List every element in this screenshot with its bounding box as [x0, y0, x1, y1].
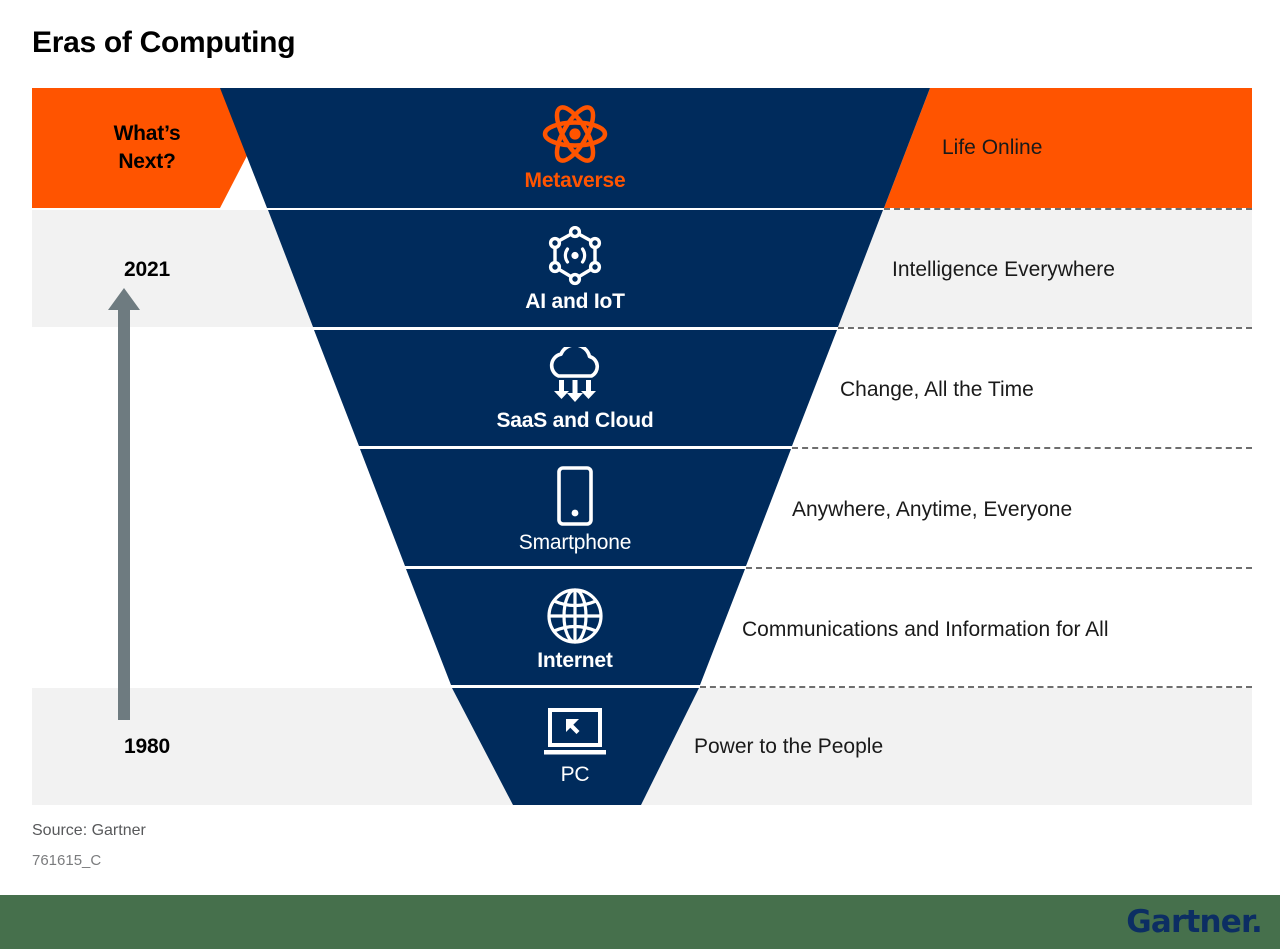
stage-smartphone: Smartphone [455, 450, 695, 570]
laptop-cursor-icon [542, 707, 608, 759]
source-line: Source: Gartner [32, 822, 146, 840]
page-title: Eras of Computing [32, 26, 295, 60]
year-1980-label: 1980 [124, 733, 170, 761]
descriptor-pc: Power to the People [694, 735, 883, 759]
descriptor-cell-pc: Power to the People [694, 688, 1114, 805]
stage-label-smartphone: Smartphone [519, 531, 631, 555]
descriptor-internet: Communications and Information for All [742, 618, 1109, 642]
year-2021-label: 2021 [124, 256, 170, 284]
gartner-logo-text: Gartner. [1126, 904, 1262, 940]
stage-label-ai-iot: AI and IoT [525, 290, 625, 314]
infographic-canvas: Eras of Computing What’s Next? Li [0, 0, 1280, 949]
descriptor-saas-cloud: Change, All the Time [840, 378, 1034, 402]
descriptor-cell-saas-cloud: Change, All the Time [840, 330, 1270, 450]
stage-label-pc: PC [561, 763, 590, 787]
stage-metaverse: Metaverse [455, 88, 695, 208]
stage-internet: Internet [455, 570, 695, 690]
whats-next-line2: Next? [118, 150, 175, 173]
descriptor-cell-smartphone: Anywhere, Anytime, Everyone [792, 450, 1272, 570]
stage-ai-iot: AI and IoT [455, 210, 695, 330]
stage-label-internet: Internet [537, 649, 612, 673]
stage-pc: PC [455, 688, 695, 805]
descriptor-cell-metaverse: Life Online [942, 88, 1262, 208]
footer-bar: Gartner. [0, 895, 1280, 949]
globe-icon [546, 587, 604, 645]
upward-time-arrow-icon [108, 288, 140, 720]
cloud-download-icon [540, 347, 610, 405]
descriptor-cell-ai-iot: Intelligence Everywhere [892, 210, 1272, 330]
timeline-label-1980: 1980 [32, 688, 262, 805]
stage-label-saas-cloud: SaaS and Cloud [496, 409, 653, 433]
descriptor-cell-internet: Communications and Information for All [742, 570, 1272, 690]
whats-next-label: What’s Next? [114, 120, 181, 175]
source-code: 761615_C [32, 852, 101, 869]
stage-label-metaverse: Metaverse [525, 169, 626, 193]
iot-network-icon [545, 226, 605, 286]
stage-saas-cloud: SaaS and Cloud [455, 330, 695, 450]
descriptor-smartphone: Anywhere, Anytime, Everyone [792, 498, 1072, 522]
gartner-logo: Gartner. [1126, 901, 1262, 943]
timeline-label-2021: 2021 [32, 210, 262, 330]
smartphone-icon [556, 465, 594, 527]
descriptor-ai-iot: Intelligence Everywhere [892, 258, 1115, 282]
atom-icon [542, 103, 608, 165]
whats-next-line1: What’s [114, 122, 181, 145]
timeline-label-whats-next: What’s Next? [32, 88, 262, 208]
descriptor-metaverse: Life Online [942, 136, 1042, 160]
